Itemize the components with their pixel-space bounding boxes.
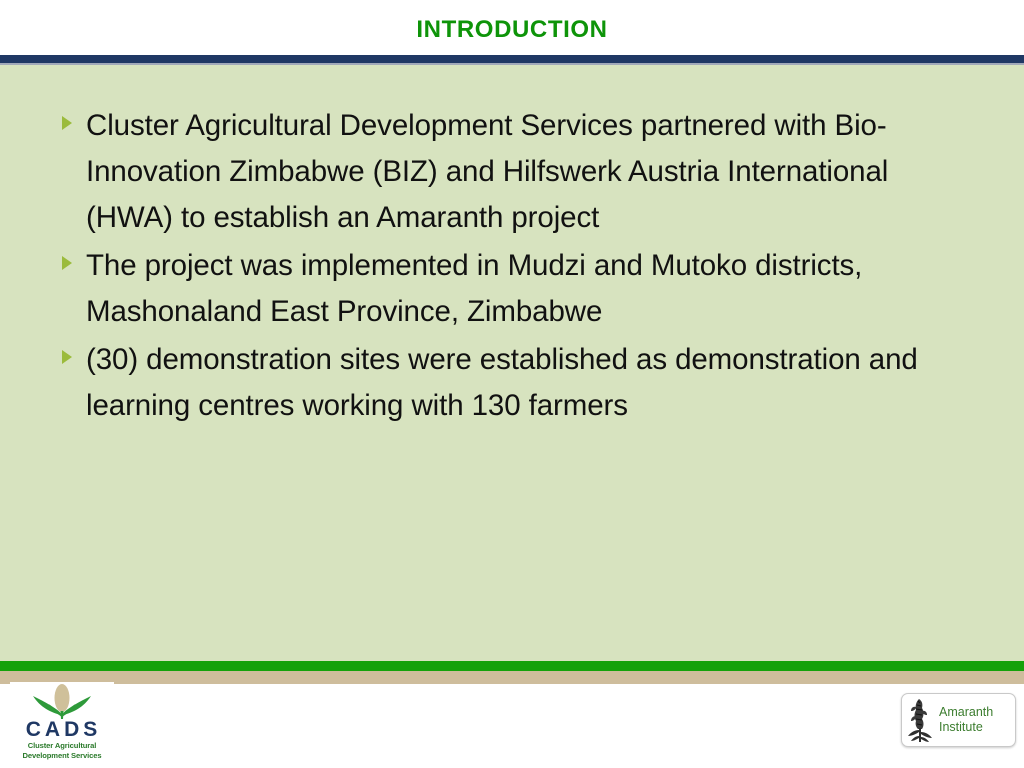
bullet-text: Cluster Agricultural Development Service… — [86, 103, 962, 241]
list-item: The project was implemented in Mudzi and… — [62, 243, 962, 335]
cads-subtitle-line2: Development Services — [10, 751, 114, 761]
amaranth-plant-icon — [29, 683, 95, 719]
footer-green-band — [0, 661, 1024, 671]
amaranth-plant-icon — [906, 697, 936, 743]
bullet-triangle-icon — [62, 103, 86, 130]
slide-header: INTRODUCTION — [0, 0, 1024, 56]
amaranth-logo-text: Amaranth Institute — [939, 705, 1015, 735]
slide-body: Cluster Agricultural Development Service… — [0, 65, 1024, 661]
footer-area — [0, 684, 1024, 768]
amaranth-logo-line1: Amaranth — [939, 705, 1015, 720]
list-item: (30) demonstration sites were establishe… — [62, 337, 962, 429]
bullet-list: Cluster Agricultural Development Service… — [62, 103, 962, 431]
cads-logo: CADS Cluster Agricultural Development Se… — [10, 682, 114, 764]
bullet-text: The project was implemented in Mudzi and… — [86, 243, 962, 335]
page-title: INTRODUCTION — [416, 14, 607, 42]
amaranth-logo-line2: Institute — [939, 720, 1015, 735]
bullet-text: (30) demonstration sites were establishe… — [86, 337, 962, 429]
slide: INTRODUCTION Cluster Agricultural Develo… — [0, 0, 1024, 768]
amaranth-institute-logo: Amaranth Institute — [901, 693, 1016, 747]
header-divider — [0, 55, 1024, 63]
bullet-triangle-icon — [62, 337, 86, 364]
cads-acronym: CADS — [13, 719, 114, 741]
bullet-triangle-icon — [62, 243, 86, 270]
list-item: Cluster Agricultural Development Service… — [62, 103, 962, 241]
cads-subtitle-line1: Cluster Agricultural — [10, 741, 114, 751]
footer-tan-band — [0, 671, 1024, 684]
